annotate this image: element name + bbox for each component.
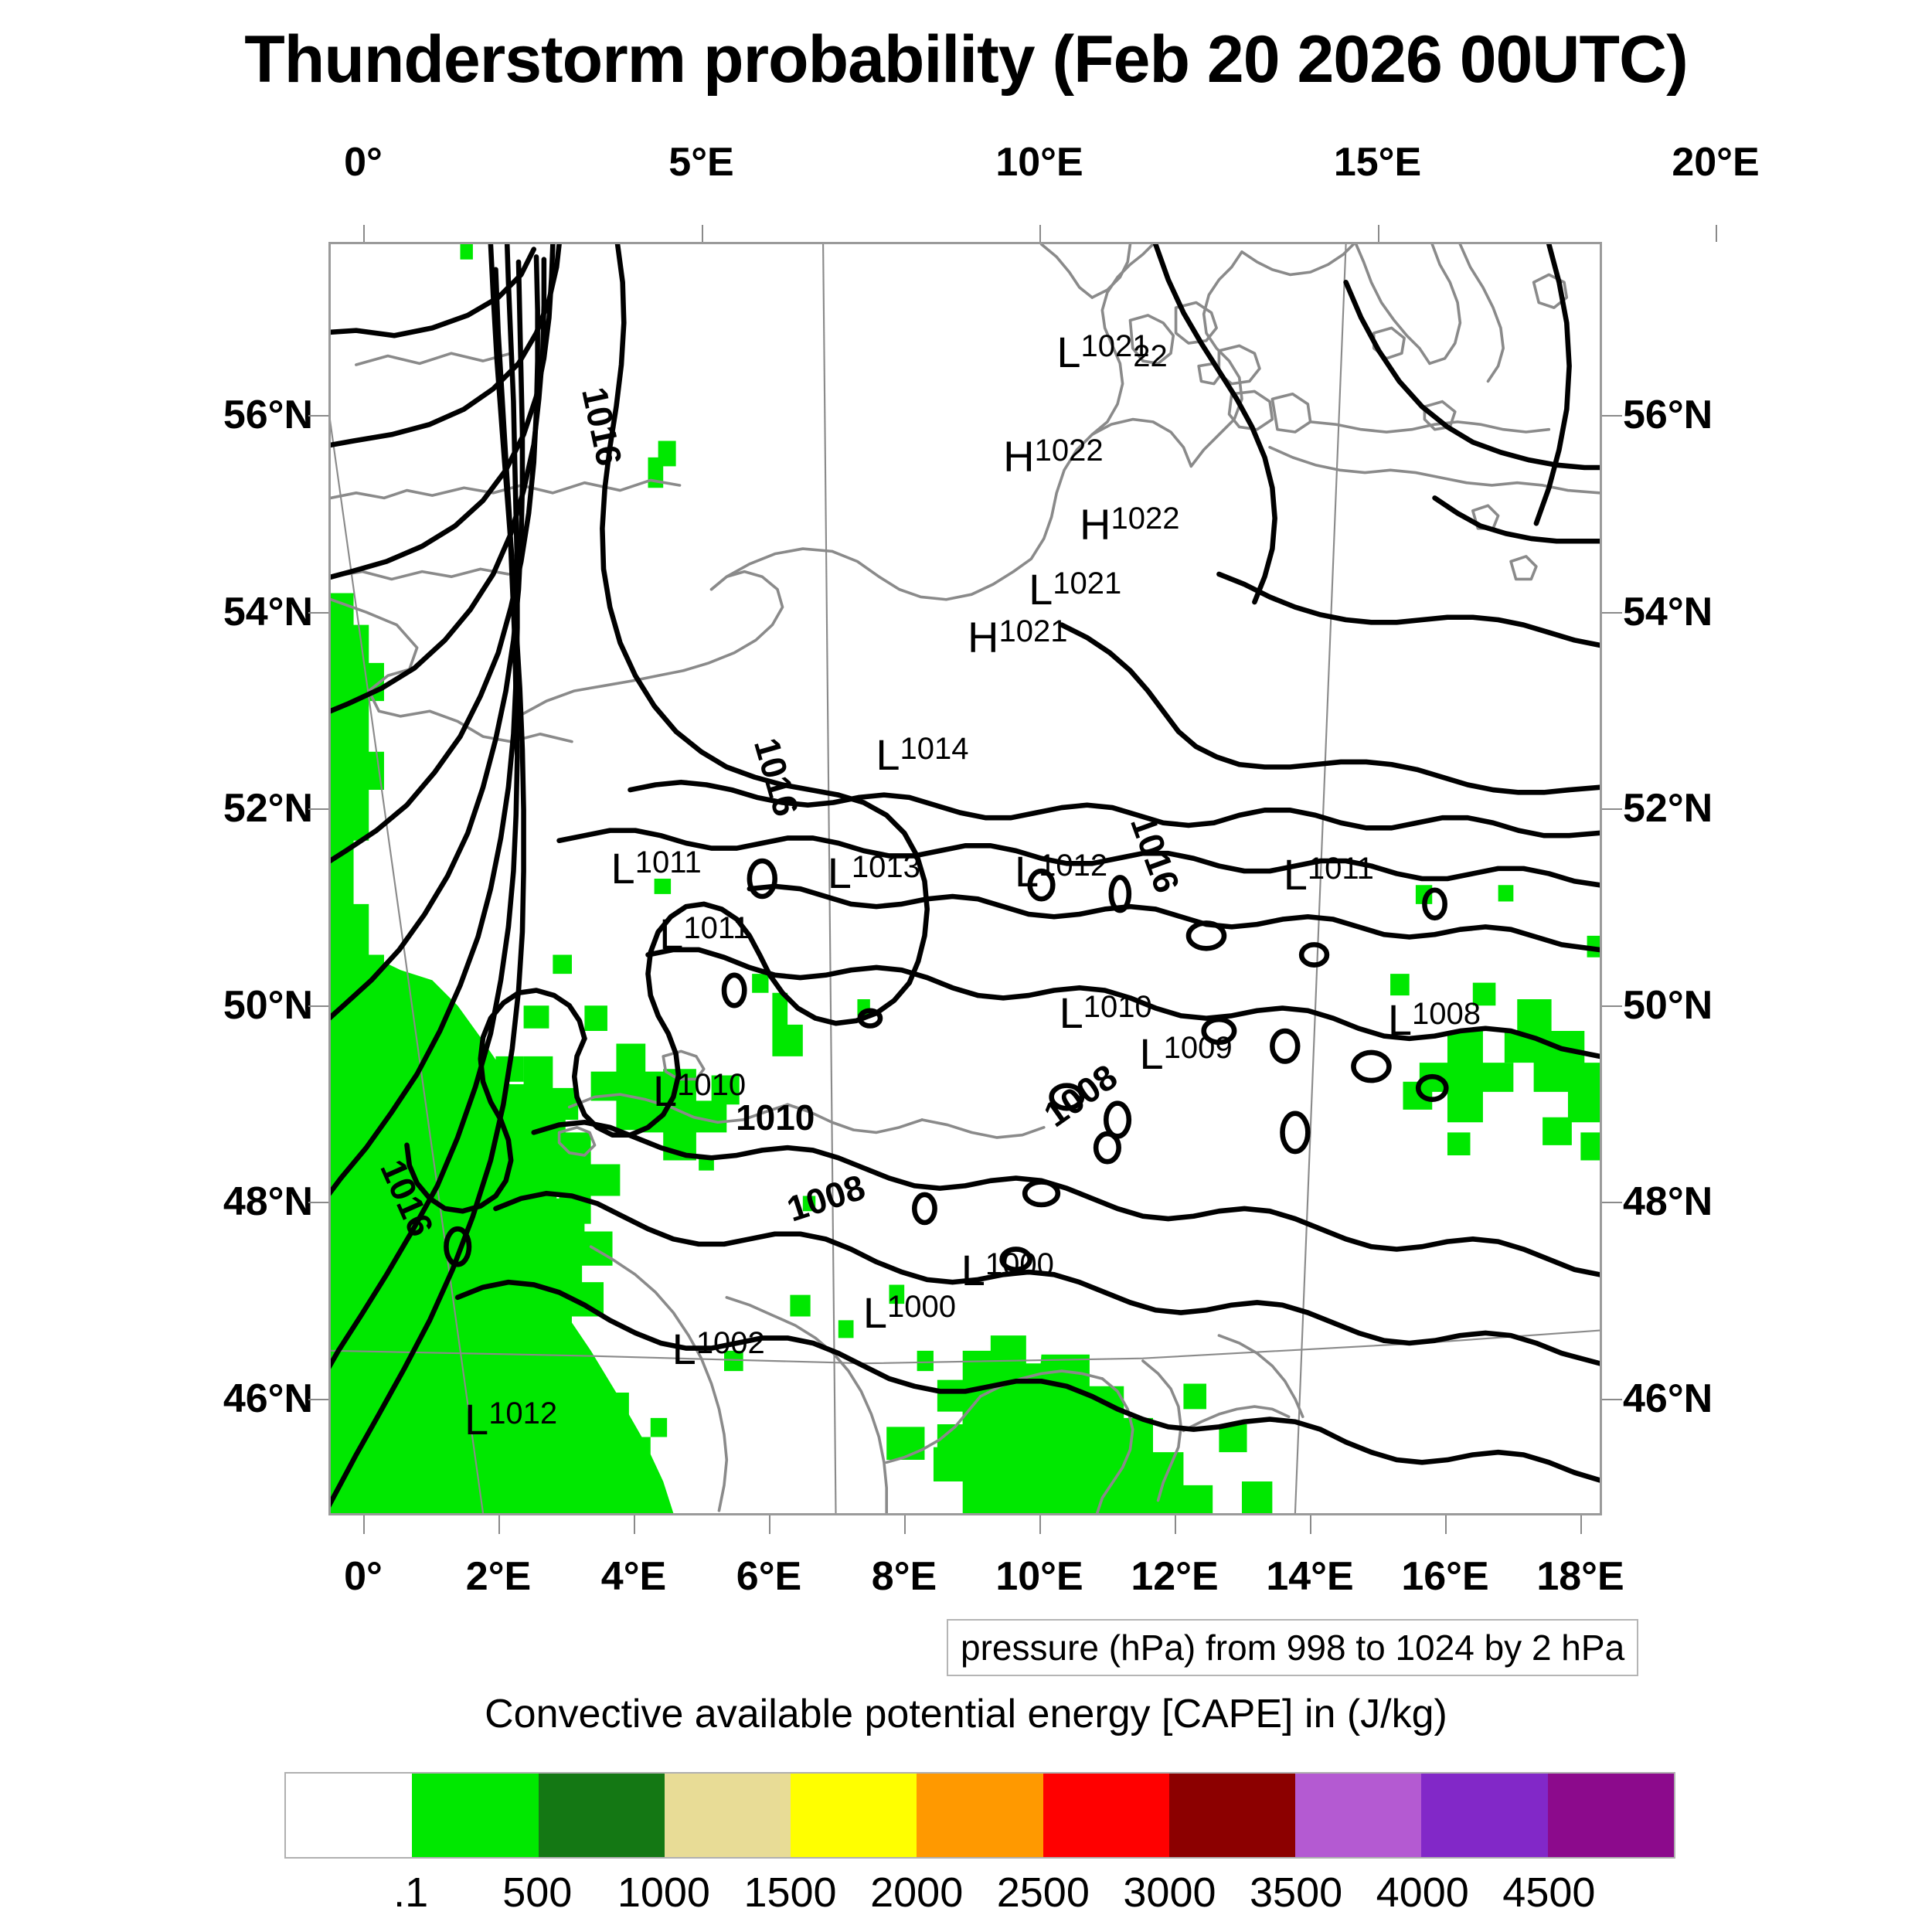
pressure-value-label-3: 22	[1133, 341, 1168, 372]
low-pressure-marker-12: L1011	[1284, 853, 1374, 896]
low-pressure-marker-17: L1010	[653, 1070, 746, 1113]
axis-bottom-tick-8: 16°E	[1401, 1553, 1488, 1600]
colorbar-label-0: .1	[393, 1869, 428, 1917]
pressure-value: 1010	[677, 1068, 746, 1102]
axis-top-tick-2: 10°E	[995, 139, 1083, 185]
tick-top-1	[702, 225, 703, 242]
low-letter: L	[1060, 988, 1083, 1037]
low-letter: L	[653, 1066, 677, 1115]
high-pressure-marker-7: H1021	[968, 616, 1067, 659]
high-pressure-marker-4: H1022	[1003, 435, 1103, 478]
axis-left-tick-0: 56°N	[223, 392, 313, 438]
low-pressure-marker-21: L1012	[464, 1398, 557, 1441]
colorbar-band-4[interactable]	[791, 1774, 917, 1857]
cape-colorbar[interactable]	[284, 1772, 1675, 1859]
colorbar-band-1[interactable]	[412, 1774, 538, 1857]
tick-left-1	[308, 612, 328, 614]
axis-bottom-tick-9: 18°E	[1536, 1553, 1624, 1600]
colorbar-band-5[interactable]	[917, 1774, 1043, 1857]
colorbar-band-10[interactable]	[1548, 1774, 1674, 1857]
tick-left-2	[308, 808, 328, 810]
tick-bottom-7	[1310, 1515, 1311, 1534]
map-canvas	[331, 244, 1600, 1513]
pressure-value: 1000	[985, 1247, 1054, 1281]
pressure-value: 1022	[1035, 434, 1104, 468]
axis-right-tick-2: 52°N	[1623, 785, 1713, 832]
tick-bottom-8	[1445, 1515, 1447, 1534]
tick-top-4	[1716, 225, 1717, 242]
weather-map-page: Thunderstorm probability (Feb 20 2026 00…	[0, 0, 1932, 1932]
low-letter: L	[876, 730, 900, 779]
colorbar-band-2[interactable]	[539, 1774, 665, 1857]
pressure-value: 1009	[1164, 1031, 1233, 1065]
map-plot-area[interactable]: L10191019L102122H1022H1022L1021H1021L101…	[328, 242, 1602, 1515]
axis-bottom-tick-2: 4°E	[601, 1553, 666, 1600]
pressure-value: 1008	[1412, 997, 1481, 1031]
low-letter: L	[1139, 1029, 1163, 1078]
tick-right-2	[1602, 808, 1622, 810]
axis-left-tick-4: 48°N	[223, 1179, 313, 1225]
low-pressure-marker-19: L1000	[863, 1291, 956, 1335]
page-title: Thunderstorm probability (Feb 20 2026 00…	[0, 22, 1932, 98]
axis-bottom-tick-7: 14°E	[1266, 1553, 1353, 1600]
axis-bottom-tick-3: 6°E	[736, 1553, 801, 1600]
colorbar-band-3[interactable]	[665, 1774, 791, 1857]
low-pressure-marker-9: L1011	[611, 847, 702, 890]
low-letter: L	[1388, 995, 1412, 1044]
low-letter: L	[863, 1288, 887, 1337]
tick-right-4	[1602, 1202, 1622, 1203]
low-pressure-marker-10: L1013	[828, 852, 920, 895]
pressure-value: 1011	[635, 845, 702, 879]
low-letter: L	[828, 849, 852, 897]
tick-bottom-4	[904, 1515, 906, 1534]
high-pressure-marker-5: H1022	[1080, 503, 1179, 546]
tick-bottom-2	[634, 1515, 635, 1534]
tick-left-4	[308, 1202, 328, 1203]
axis-right-tick-5: 46°N	[1623, 1376, 1713, 1422]
isobar-label-6: 1010	[736, 1100, 815, 1135]
high-letter: H	[1003, 432, 1034, 481]
high-letter: H	[968, 613, 998, 662]
axis-bottom-tick-5: 10°E	[995, 1553, 1083, 1600]
colorbar-label-9: 4500	[1502, 1869, 1595, 1917]
low-pressure-marker-6: L1021	[1029, 568, 1121, 611]
low-letter: L	[1284, 850, 1308, 899]
tick-bottom-0	[363, 1515, 365, 1534]
colorbar-band-8[interactable]	[1295, 1774, 1421, 1857]
colorbar-label-1: 500	[502, 1869, 572, 1917]
tick-right-3	[1602, 1005, 1622, 1007]
low-pressure-marker-15: L1008	[1388, 998, 1481, 1042]
pressure-value: 1013	[852, 850, 920, 884]
tick-left-3	[308, 1005, 328, 1007]
pressure-value: 1022	[1111, 502, 1179, 536]
axis-bottom-tick-4: 8°E	[872, 1553, 937, 1600]
low-pressure-marker-8: L1014	[876, 733, 968, 777]
colorbar-tick-labels: .150010001500200025003000350040004500	[284, 1869, 1675, 1923]
colorbar-label-2: 1000	[617, 1869, 710, 1917]
pressure-value: 1021	[1053, 566, 1121, 600]
low-letter: L	[1029, 565, 1053, 614]
axis-top-tick-4: 20°E	[1672, 139, 1759, 185]
tick-top-0	[363, 225, 365, 242]
axis-left-tick-2: 52°N	[223, 785, 313, 832]
tick-left-0	[308, 415, 328, 417]
colorbar-label-6: 3000	[1123, 1869, 1216, 1917]
low-pressure-marker-16: L1009	[1139, 1032, 1232, 1076]
axis-bottom-tick-0: 0°	[344, 1553, 383, 1600]
tick-bottom-9	[1580, 1515, 1582, 1534]
colorbar-label-4: 2000	[870, 1869, 963, 1917]
axis-right-tick-0: 56°N	[1623, 392, 1713, 438]
colorbar-band-0[interactable]	[286, 1774, 412, 1857]
pressure-caption: pressure (hPa) from 998 to 1024 by 2 hPa	[947, 1619, 1638, 1676]
pressure-value: 1000	[887, 1290, 956, 1324]
axis-top-tick-0: 0°	[344, 139, 383, 185]
colorbar-title: Convective available potential energy [C…	[0, 1691, 1932, 1737]
tick-bottom-6	[1175, 1515, 1176, 1534]
tick-top-3	[1378, 225, 1379, 242]
axis-top-tick-1: 5°E	[668, 139, 733, 185]
low-pressure-marker-20: L1002	[672, 1328, 765, 1371]
low-pressure-marker-11: L1012	[1015, 850, 1107, 893]
tick-right-1	[1602, 612, 1622, 614]
low-letter: L	[464, 1395, 488, 1444]
tick-top-2	[1039, 225, 1041, 242]
tick-bottom-3	[769, 1515, 770, 1534]
axis-bottom-tick-1: 2°E	[466, 1553, 531, 1600]
low-pressure-marker-14: L1010	[1060, 992, 1152, 1035]
pressure-value: 1012	[488, 1396, 557, 1430]
colorbar-label-7: 3500	[1250, 1869, 1342, 1917]
tick-left-5	[308, 1399, 328, 1400]
axis-bottom-tick-6: 12°E	[1131, 1553, 1218, 1600]
pressure-value: 1010	[1083, 990, 1152, 1024]
axis-top-tick-3: 15°E	[1334, 139, 1421, 185]
pressure-value: 22	[1133, 339, 1168, 373]
colorbar-band-6[interactable]	[1043, 1774, 1169, 1857]
pressure-value: 1012	[1039, 849, 1107, 883]
colorbar-label-3: 1500	[743, 1869, 836, 1917]
colorbar-label-5: 2500	[997, 1869, 1090, 1917]
axis-left-tick-3: 50°N	[223, 982, 313, 1029]
low-pressure-marker-18: L1000	[961, 1249, 1054, 1292]
axis-left-tick-1: 54°N	[223, 589, 313, 635]
pressure-value: 1021	[998, 614, 1067, 648]
axis-right-tick-3: 50°N	[1623, 982, 1713, 1029]
axis-right-tick-4: 48°N	[1623, 1179, 1713, 1225]
pressure-value: 1002	[696, 1326, 765, 1360]
colorbar-band-7[interactable]	[1169, 1774, 1295, 1857]
colorbar-band-9[interactable]	[1421, 1774, 1547, 1857]
low-pressure-marker-13: L1011	[659, 913, 750, 956]
pressure-value: 1011	[683, 911, 750, 945]
tick-right-5	[1602, 1399, 1622, 1400]
colorbar-label-8: 4000	[1376, 1869, 1469, 1917]
low-letter: L	[961, 1246, 985, 1294]
axis-left-tick-5: 46°N	[223, 1376, 313, 1422]
high-letter: H	[1080, 500, 1111, 549]
low-letter: L	[1056, 328, 1080, 376]
pressure-value: 1011	[1308, 852, 1374, 886]
tick-bottom-1	[498, 1515, 500, 1534]
low-letter: L	[672, 1325, 696, 1373]
tick-right-0	[1602, 415, 1622, 417]
tick-bottom-5	[1039, 1515, 1041, 1534]
axis-right-tick-1: 54°N	[1623, 589, 1713, 635]
pressure-value: 1014	[900, 732, 969, 766]
low-letter: L	[1015, 847, 1039, 896]
low-letter: L	[659, 910, 683, 958]
low-letter: L	[611, 844, 635, 893]
